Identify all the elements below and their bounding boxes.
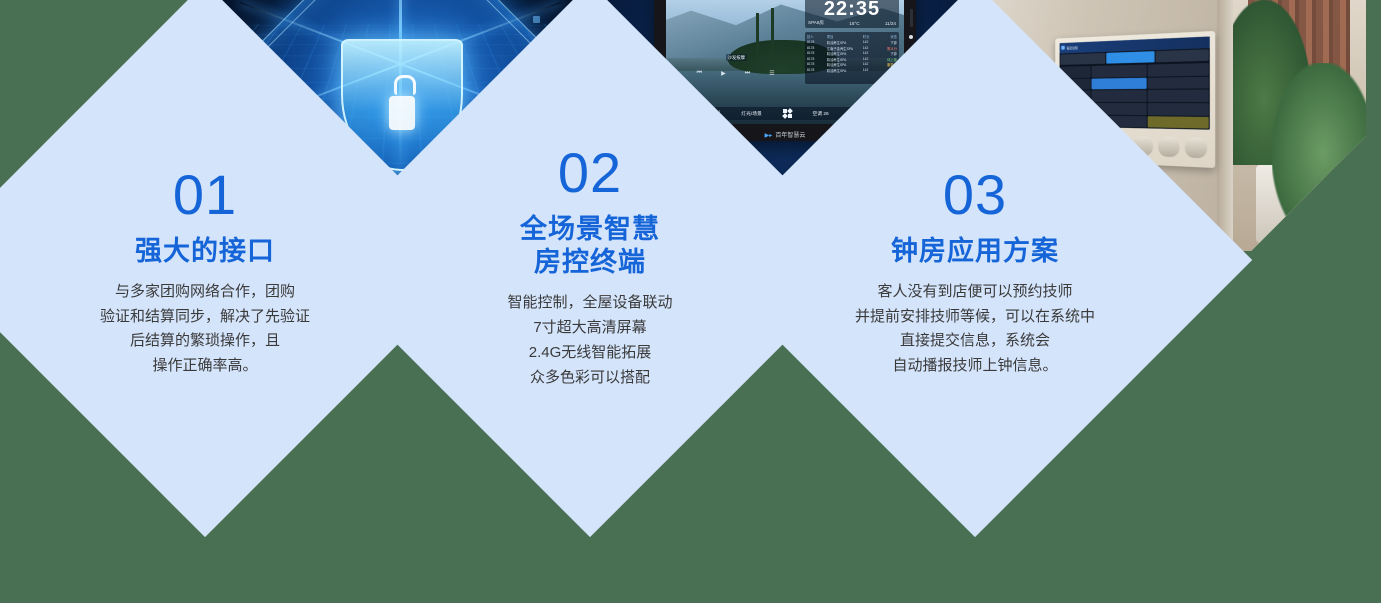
panel-mid-3[interactable]: [1092, 91, 1148, 103]
tablet-side-button[interactable]: [910, 9, 913, 27]
table-row: 8178江南子金养生SPA142剩11分: [807, 46, 897, 51]
panel-right-5[interactable]: [1148, 116, 1209, 129]
panel-tab-energy[interactable]: [1156, 49, 1208, 63]
plant-right: [1272, 63, 1366, 243]
btn-aircon[interactable]: 空调 26: [812, 110, 828, 117]
clock-temp: 15°C: [849, 20, 859, 25]
panel-right-2[interactable]: [1148, 77, 1209, 90]
panel-right-3[interactable]: [1148, 90, 1209, 102]
clock-room: SPA6房: [808, 20, 824, 26]
wallpaper-tree-1: [756, 13, 759, 53]
brand-mark-icon: ▶▸: [765, 133, 773, 139]
table-row: 8178精油养生SPA142待上钟: [807, 57, 897, 62]
diamond-collage: CSI2WO 22:35 SPA6房 15°C 11/24: [0, 0, 1381, 603]
panel-key-6[interactable]: [1185, 138, 1206, 157]
panel-right-1[interactable]: [1148, 63, 1209, 76]
btn-lighting-scene[interactable]: 灯光/场景: [741, 110, 762, 117]
panel-title: 客房控制: [1067, 45, 1078, 50]
card-title-02: 全场景智慧 房控终端: [425, 213, 755, 279]
table-header-row: 技人 项目 时长 状态: [807, 34, 897, 39]
table-row: 8178精油养生SPA142下钟: [807, 40, 897, 45]
wallpaper-tree-2: [771, 8, 774, 53]
card-number-02: 02: [425, 145, 755, 201]
play-icon[interactable]: ▶: [721, 70, 726, 77]
table-row: 8178精油养生SPA142服务中: [807, 62, 897, 67]
next-icon[interactable]: ⏭: [745, 70, 750, 77]
panel-right-4[interactable]: [1148, 103, 1209, 115]
table-row: 8178精油养生SPA142下钟: [807, 68, 897, 73]
clock-time: 22:35: [808, 0, 896, 19]
card-number-01: 01: [40, 167, 370, 223]
card-desc-02: 智能控制，全屋设备联动 7寸超大高清屏幕 2.4G无线智能拓展 众多色彩可以搭配: [425, 291, 755, 391]
th-dur: 时长: [863, 34, 877, 39]
th-item: 项目: [827, 34, 863, 39]
wall-corner-edge: [1217, 0, 1233, 251]
card-number-03: 03: [799, 167, 1151, 223]
list-icon[interactable]: ☰: [769, 70, 774, 77]
th-status: 状态: [876, 34, 897, 39]
th-tech: 技人: [807, 34, 827, 39]
clock-date: 11/24: [885, 20, 896, 25]
panel-mid-1[interactable]: [1092, 65, 1148, 78]
card-title-03: 钟房应用方案: [799, 235, 1151, 268]
table-row: 8178精油养生SPA142下钟: [807, 51, 897, 56]
panel-tab-service[interactable]: [1107, 51, 1156, 64]
panel-key-5[interactable]: [1159, 137, 1180, 156]
panel-tab-room[interactable]: [1061, 53, 1106, 65]
apps-grid-icon[interactable]: [783, 109, 792, 118]
panel-right-column[interactable]: [1148, 63, 1209, 129]
card-desc-03: 客人没有到店便可以预约技师 并提前安排技师等候，可以在系统中 直接提交信息，系统…: [799, 280, 1151, 380]
tablet-brand-bottom: ▶▸百年智慧云: [765, 130, 806, 139]
media-controls[interactable]: 🔊 ⏮ ▶ ⏭ ☰: [670, 70, 775, 77]
panel-mid-2[interactable]: [1092, 78, 1148, 90]
card-desc-01: 与多家团购网络合作，团购 验证和结算同步，解决了先验证 后结算的繁琐操作，且 操…: [40, 280, 370, 380]
prev-icon[interactable]: ⏮: [697, 70, 702, 77]
clock-widget: 22:35 SPA6房 15°C 11/24: [805, 0, 899, 28]
panel-logo-icon: [1062, 46, 1065, 50]
scene-tag: 沙发按摩: [726, 54, 748, 61]
